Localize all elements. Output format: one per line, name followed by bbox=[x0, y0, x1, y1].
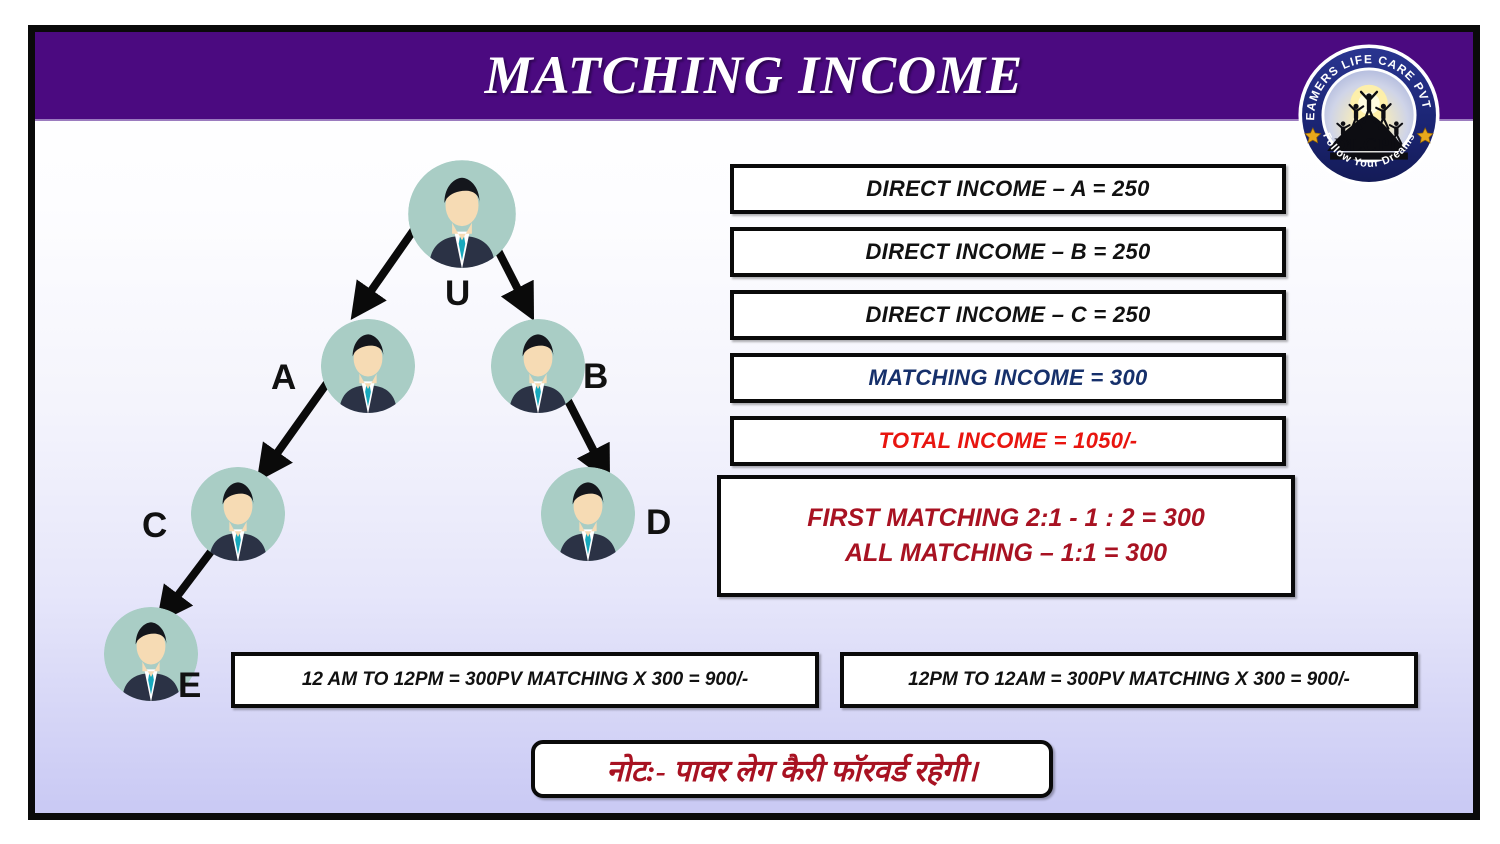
genealogy-tree: U A bbox=[35, 121, 735, 820]
tree-node-a[interactable] bbox=[320, 318, 416, 414]
tree-label-b: B bbox=[583, 357, 608, 397]
income-box-text: DIRECT INCOME – A = 250 bbox=[866, 176, 1149, 202]
time-box-pm: 12PM TO 12AM = 300PV MATCHING X 300 = 90… bbox=[840, 652, 1418, 708]
income-box-text: DIRECT INCOME – C = 250 bbox=[865, 302, 1150, 328]
tree-node-u[interactable] bbox=[407, 159, 517, 269]
tree-node-d[interactable] bbox=[540, 466, 636, 562]
matching-rule-all: ALL MATCHING – 1:1 = 300 bbox=[845, 539, 1167, 568]
tree-label-a: A bbox=[271, 358, 296, 398]
slide-canvas: MATCHING INCOME bbox=[0, 0, 1500, 844]
tree-node-c[interactable] bbox=[190, 466, 286, 562]
income-box-total: TOTAL INCOME = 1050/- bbox=[730, 416, 1286, 466]
dlcpl-logo: DLCPL DREAMERS LIFE CARE PVT LTD Follow … bbox=[1297, 43, 1441, 187]
slide-frame: MATCHING INCOME bbox=[28, 25, 1480, 820]
tree-label-u: U bbox=[445, 274, 470, 314]
tree-node-b[interactable] bbox=[490, 318, 586, 414]
avatar bbox=[490, 318, 586, 414]
time-box-text: 12 AM TO 12PM = 300PV MATCHING X 300 = 9… bbox=[302, 669, 748, 691]
note-box: नोट:- पावर लेग कैरी फॉरवर्ड रहेगी। bbox=[531, 740, 1053, 798]
time-box-text: 12PM TO 12AM = 300PV MATCHING X 300 = 90… bbox=[908, 669, 1350, 691]
tree-label-c: C bbox=[142, 506, 167, 546]
income-box-matching: MATCHING INCOME = 300 bbox=[730, 353, 1286, 403]
matching-rules-box: FIRST MATCHING 2:1 - 1 : 2 = 300 ALL MAT… bbox=[717, 475, 1295, 597]
matching-rule-first: FIRST MATCHING 2:1 - 1 : 2 = 300 bbox=[807, 504, 1205, 533]
income-box-text: MATCHING INCOME = 300 bbox=[868, 365, 1147, 391]
income-box-direct-b: DIRECT INCOME – B = 250 bbox=[730, 227, 1286, 277]
avatar bbox=[320, 318, 416, 414]
page-title: MATCHING INCOME bbox=[35, 43, 1473, 105]
income-box-direct-a: DIRECT INCOME – A = 250 bbox=[730, 164, 1286, 214]
income-box-direct-c: DIRECT INCOME – C = 250 bbox=[730, 290, 1286, 340]
tree-label-d: D bbox=[646, 503, 671, 543]
note-text: नोट:- पावर लेग कैरी फॉरवर्ड रहेगी। bbox=[606, 749, 977, 790]
avatar bbox=[540, 466, 636, 562]
header-bar: MATCHING INCOME bbox=[35, 32, 1473, 121]
time-box-am: 12 AM TO 12PM = 300PV MATCHING X 300 = 9… bbox=[231, 652, 819, 708]
tree-label-e: E bbox=[178, 666, 201, 706]
income-box-text: TOTAL INCOME = 1050/- bbox=[879, 428, 1138, 454]
logo-badge-icon: DLCPL DREAMERS LIFE CARE PVT LTD Follow … bbox=[1297, 43, 1441, 187]
avatar bbox=[407, 159, 517, 269]
income-box-text: DIRECT INCOME – B = 250 bbox=[865, 239, 1150, 265]
avatar bbox=[190, 466, 286, 562]
